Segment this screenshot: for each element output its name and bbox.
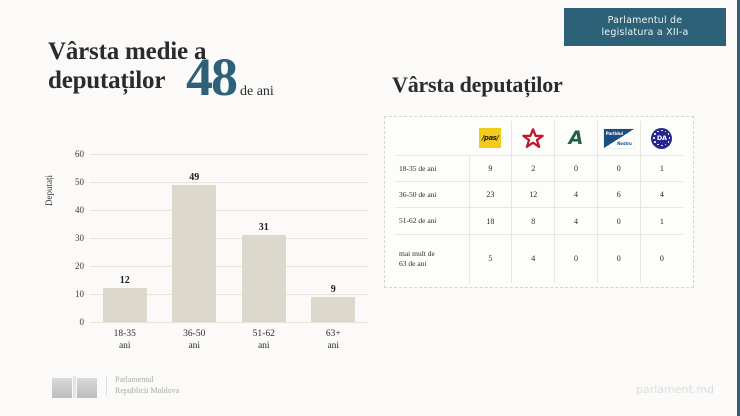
table-cell: 6 [597, 182, 640, 208]
chart-bar-column: 31 [242, 154, 286, 322]
average-age-callout: 48 de ani [186, 56, 274, 100]
table-cell: 5 [469, 234, 512, 283]
table-row-label: mai mult de63 de ani [395, 234, 469, 283]
party-age-table-panel: /pas/APartidulNostruDA 18-35 de ani92001… [384, 116, 694, 288]
chart-x-tick-label: 18-35ani [103, 328, 147, 353]
chart-bar-value-label: 49 [189, 172, 199, 183]
table-header-row: /pas/APartidulNostruDA [395, 121, 683, 156]
table-cell: 0 [555, 234, 598, 283]
table-cell: 1 [640, 208, 683, 234]
table-corner-cell [395, 121, 469, 156]
footer-org-line2: Republicii Moldova [115, 386, 179, 397]
chart-plot-area: 0102030405060 1249319 [90, 154, 368, 322]
table-header: /pas/APartidulNostruDA [395, 121, 683, 156]
partidul-nostru-logo: PartidulNostru [598, 128, 640, 149]
table-cell: 4 [512, 234, 555, 283]
table-party-header [512, 121, 555, 156]
header-badge-line1: Parlamentul de [608, 15, 683, 27]
chart-bar-column: 12 [103, 154, 147, 322]
chart-bars: 1249319 [90, 154, 368, 322]
chart-bar [242, 235, 286, 322]
table-cell: 9 [469, 156, 512, 182]
table-row: 36-50 de ani2312464 [395, 182, 683, 208]
header-badge: Parlamentul de legislatura a XII-a [564, 8, 726, 46]
average-age-unit: de ani [240, 84, 274, 100]
chart-y-tick-label: 10 [75, 289, 84, 299]
site-url: parlament.md [636, 383, 714, 396]
table-cell: 4 [555, 208, 598, 234]
chart-y-tick-label: 50 [75, 177, 84, 187]
chart-y-tick-label: 60 [75, 149, 84, 159]
chart-y-tick-label: 30 [75, 233, 84, 243]
chart-bar [172, 185, 216, 322]
chart-bar-column: 9 [311, 154, 355, 322]
chart-x-tick-label: 36-50ani [172, 328, 216, 353]
table-row-label: 51-62 de ani [395, 208, 469, 234]
table-cell: 18 [469, 208, 512, 234]
table-cell: 1 [640, 156, 683, 182]
table-row-label: 18-35 de ani [395, 156, 469, 182]
table-row: 51-62 de ani188401 [395, 208, 683, 234]
chart-y-tick-label: 0 [80, 317, 85, 327]
table-cell: 2 [512, 156, 555, 182]
table-cell: 12 [512, 182, 555, 208]
table-party-header: /pas/ [469, 121, 512, 156]
chart-bar-value-label: 31 [259, 222, 269, 233]
age-bar-chart: Deputați 0102030405060 1249319 18-35ani3… [48, 148, 368, 348]
chart-x-tick-label: 63+ani [311, 328, 355, 353]
chart-bar-value-label: 9 [331, 284, 336, 295]
chart-x-tick-label: 51-62ani [242, 328, 286, 353]
chart-bar-value-label: 12 [120, 275, 130, 286]
table-row-label: 36-50 de ani [395, 182, 469, 208]
parliament-building-icon [50, 374, 98, 398]
da-logo: DA [641, 128, 683, 149]
chart-gridline: 0 [90, 322, 368, 323]
chart-bar [103, 288, 147, 322]
chart-y-axis-label: Deputați [44, 175, 54, 206]
header-badge-line2: legislatura a XII-a [601, 27, 688, 39]
footer-organization: Parlamentul Republicii Moldova [50, 374, 179, 398]
table-cell: 8 [512, 208, 555, 234]
table-cell: 0 [597, 156, 640, 182]
footer-org-line1: Parlamentul [115, 375, 179, 386]
party-age-table: /pas/APartidulNostruDA 18-35 de ani92001… [395, 121, 683, 283]
table-party-header: A [555, 121, 598, 156]
table-cell: 0 [597, 234, 640, 283]
table-row: mai mult de63 de ani54000 [395, 234, 683, 283]
table-row: 18-35 de ani92001 [395, 156, 683, 182]
chart-bar-column: 49 [172, 154, 216, 322]
footer-organization-text: Parlamentul Republicii Moldova [115, 375, 179, 397]
table-cell: 4 [555, 182, 598, 208]
chart-bar [311, 297, 355, 322]
chart-x-axis-labels: 18-35ani36-50ani51-62ani63+ani [90, 328, 368, 353]
table-body: 18-35 de ani9200136-50 de ani231246451-6… [395, 156, 683, 284]
table-heading: Vârsta deputaților [392, 72, 563, 98]
chart-y-tick-label: 40 [75, 205, 84, 215]
star-logo [512, 128, 554, 149]
table-cell: 0 [597, 208, 640, 234]
chart-y-tick-label: 20 [75, 261, 84, 271]
a-logo: A [555, 129, 597, 148]
average-age-number: 48 [186, 56, 236, 99]
table-cell: 0 [555, 156, 598, 182]
footer-divider [106, 376, 107, 396]
table-party-header: PartidulNostru [597, 121, 640, 156]
pas-logo: /pas/ [469, 128, 511, 148]
table-cell: 0 [640, 234, 683, 283]
table-cell: 23 [469, 182, 512, 208]
table-party-header: DA [640, 121, 683, 156]
table-cell: 4 [640, 182, 683, 208]
